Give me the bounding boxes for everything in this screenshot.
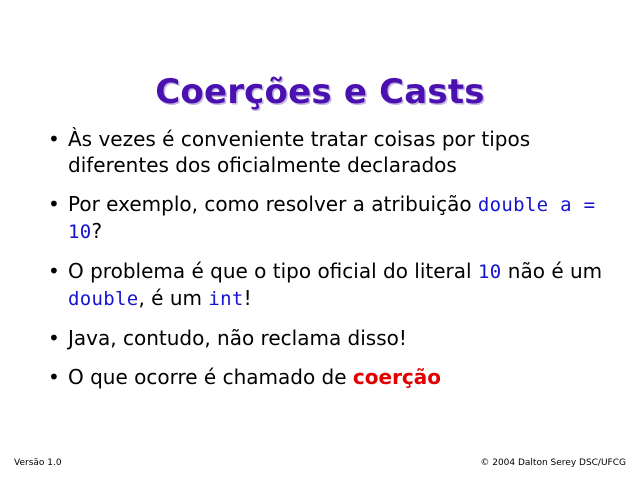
text-run: O que ocorre é chamado de: [68, 365, 353, 389]
inline-code: double: [68, 288, 138, 310]
inline-code: 10: [478, 261, 501, 283]
bullet-dot-icon: •: [48, 364, 62, 390]
text-run: Às vezes é conveniente tratar coisas por…: [68, 127, 530, 177]
bullet-text: Por exemplo, como resolver a atribuição …: [68, 191, 614, 245]
text-run: Java, contudo, não reclama disso!: [68, 326, 407, 350]
bullet-dot-icon: •: [48, 325, 62, 351]
bullet-item: •Por exemplo, como resolver a atribuição…: [44, 191, 614, 245]
text-run: ?: [91, 219, 102, 243]
bullet-dot-icon: •: [48, 126, 62, 152]
footer-copyright-label: © 2004 Dalton Serey DSC/UFCG: [480, 458, 626, 468]
bullet-item: •O problema é que o tipo oficial do lite…: [44, 258, 614, 312]
highlight-term: coerção: [353, 365, 441, 389]
bullet-text: O problema é que o tipo oficial do liter…: [68, 258, 614, 312]
text-run: Por exemplo, como resolver a atribuição: [68, 192, 478, 216]
footer-version-label: Versão 1.0: [14, 458, 62, 468]
bullet-item: •Às vezes é conveniente tratar coisas po…: [44, 126, 614, 178]
bullet-item: •Java, contudo, não reclama disso!: [44, 325, 614, 351]
text-run: O problema é que o tipo oficial do liter…: [68, 259, 478, 283]
bullet-dot-icon: •: [48, 191, 62, 217]
bullet-text: O que ocorre é chamado de coerção: [68, 364, 614, 390]
text-run: , é um: [138, 286, 208, 310]
page-title: Coerções e Casts: [0, 75, 640, 109]
bullet-text: Às vezes é conveniente tratar coisas por…: [68, 126, 614, 178]
bullet-item: •O que ocorre é chamado de coerção: [44, 364, 614, 390]
bullet-dot-icon: •: [48, 258, 62, 284]
bullet-list: •Às vezes é conveniente tratar coisas po…: [44, 126, 614, 390]
text-run: !: [244, 286, 252, 310]
text-run: não é um: [501, 259, 602, 283]
inline-code: int: [208, 288, 243, 310]
bullet-text: Java, contudo, não reclama disso!: [68, 325, 614, 351]
presentation-slide: Coerções e Casts •Às vezes é conveniente…: [0, 0, 640, 480]
